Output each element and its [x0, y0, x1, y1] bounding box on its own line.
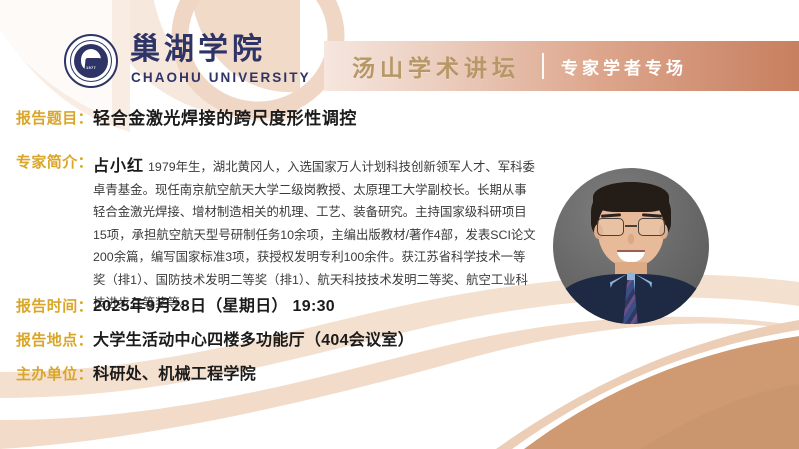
host-row: 主办单位： 科研处、机械工程学院: [16, 364, 256, 386]
place-row: 报告地点： 大学生活动中心四楼多功能厅（404会议室）: [16, 330, 414, 352]
bio-row: 专家简介： 占小红1979年生，湖北黄冈人，入选国家万人计划科技创新领军人才、军…: [16, 152, 536, 314]
place-value: 大学生活动中心四楼多功能厅（404会议室）: [93, 330, 414, 352]
time-value: 2025年9月28日（星期日） 19:30: [93, 296, 335, 318]
bio-text: 1979年生，湖北黄冈人，入选国家万人计划科技创新领军人才、军科委卓青基金。现任…: [93, 160, 536, 310]
bio-body: 占小红1979年生，湖北黄冈人，入选国家万人计划科技创新领军人才、军科委卓青基金…: [93, 152, 536, 314]
host-value: 科研处、机械工程学院: [93, 364, 256, 386]
time-row: 报告时间： 2025年9月28日（星期日） 19:30: [16, 296, 335, 318]
time-label: 报告时间：: [16, 296, 93, 318]
poster-canvas: 1977 巢湖学院 CHAOHU UNIVERSITY 汤山学术讲坛 专家学者专…: [0, 0, 799, 449]
speaker-portrait: [553, 168, 709, 324]
title-value: 轻合金激光焊接的跨尺度形性调控: [93, 108, 357, 130]
title-row: 报告题目： 轻合金激光焊接的跨尺度形性调控: [16, 108, 357, 130]
portrait-fringe: [593, 182, 669, 212]
host-label: 主办单位：: [16, 364, 93, 386]
speaker-name: 占小红: [93, 158, 144, 175]
bio-label: 专家简介：: [16, 152, 93, 174]
place-label: 报告地点：: [16, 330, 93, 352]
portrait-nose: [628, 234, 634, 244]
title-label: 报告题目：: [16, 108, 93, 130]
